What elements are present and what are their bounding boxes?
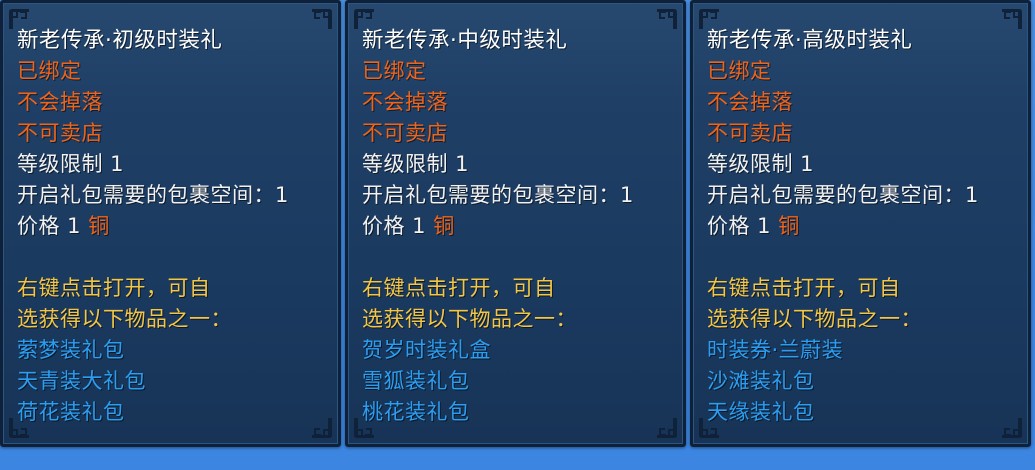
usage-hint-line-2: 选获得以下物品之一： bbox=[362, 304, 669, 335]
usage-hint-line-1: 右键点击打开，可自 bbox=[707, 273, 1014, 304]
level-limit: 等级限制 1 bbox=[707, 149, 1014, 180]
line-spacer bbox=[362, 242, 669, 273]
reward-item: 桃花装礼包 bbox=[362, 397, 669, 428]
bag-space-requirement: 开启礼包需要的包裹空间：1 bbox=[362, 180, 669, 211]
line-spacer bbox=[17, 242, 324, 273]
price-currency: 铜 bbox=[778, 214, 800, 238]
no-sell-status: 不可卖店 bbox=[362, 118, 669, 149]
level-limit: 等级限制 1 bbox=[17, 149, 324, 180]
price-row: 价格 1 铜 bbox=[17, 211, 324, 242]
bound-status: 已绑定 bbox=[707, 56, 1014, 87]
price-row: 价格 1 铜 bbox=[707, 211, 1014, 242]
reward-item: 雪狐装礼包 bbox=[362, 366, 669, 397]
tooltip-lines: 新老传承·高级时装礼 已绑定 不会掉落 不可卖店 等级限制 1 开启礼包需要的包… bbox=[707, 25, 1014, 428]
price-currency: 铜 bbox=[433, 214, 455, 238]
usage-hint-line-2: 选获得以下物品之一： bbox=[707, 304, 1014, 335]
price-label: 价格 1 bbox=[362, 214, 433, 238]
bound-status: 已绑定 bbox=[362, 56, 669, 87]
price-label: 价格 1 bbox=[17, 214, 88, 238]
item-title: 新老传承·高级时装礼 bbox=[707, 25, 1014, 56]
usage-hint-line-1: 右键点击打开，可自 bbox=[17, 273, 324, 304]
reward-item: 天青装大礼包 bbox=[17, 366, 324, 397]
no-drop-status: 不会掉落 bbox=[707, 87, 1014, 118]
item-tooltip-panel: 新老传承·初级时装礼 已绑定 不会掉落 不可卖店 等级限制 1 开启礼包需要的包… bbox=[0, 0, 341, 447]
item-tooltip-panel: 新老传承·中级时装礼 已绑定 不会掉落 不可卖店 等级限制 1 开启礼包需要的包… bbox=[345, 0, 686, 447]
item-title: 新老传承·中级时装礼 bbox=[362, 25, 669, 56]
usage-hint-line-2: 选获得以下物品之一： bbox=[17, 304, 324, 335]
usage-hint-line-1: 右键点击打开，可自 bbox=[362, 273, 669, 304]
price-label: 价格 1 bbox=[707, 214, 778, 238]
no-drop-status: 不会掉落 bbox=[362, 87, 669, 118]
bag-space-requirement: 开启礼包需要的包裹空间：1 bbox=[707, 180, 1014, 211]
tooltip-lines: 新老传承·初级时装礼 已绑定 不会掉落 不可卖店 等级限制 1 开启礼包需要的包… bbox=[17, 25, 324, 428]
price-currency: 铜 bbox=[88, 214, 110, 238]
reward-item: 萦梦装礼包 bbox=[17, 335, 324, 366]
reward-item: 时装券·兰蔚装 bbox=[707, 335, 1014, 366]
line-spacer bbox=[707, 242, 1014, 273]
item-tooltip-panel: 新老传承·高级时装礼 已绑定 不会掉落 不可卖店 等级限制 1 开启礼包需要的包… bbox=[690, 0, 1031, 447]
tooltip-lines: 新老传承·中级时装礼 已绑定 不会掉落 不可卖店 等级限制 1 开启礼包需要的包… bbox=[362, 25, 669, 428]
item-title: 新老传承·初级时装礼 bbox=[17, 25, 324, 56]
no-sell-status: 不可卖店 bbox=[707, 118, 1014, 149]
no-sell-status: 不可卖店 bbox=[17, 118, 324, 149]
reward-item: 沙滩装礼包 bbox=[707, 366, 1014, 397]
price-row: 价格 1 铜 bbox=[362, 211, 669, 242]
bound-status: 已绑定 bbox=[17, 56, 324, 87]
reward-item: 贺岁时装礼盒 bbox=[362, 335, 669, 366]
no-drop-status: 不会掉落 bbox=[17, 87, 324, 118]
game-tooltip-screen: 新老传承·初级时装礼 已绑定 不会掉落 不可卖店 等级限制 1 开启礼包需要的包… bbox=[0, 0, 1035, 470]
level-limit: 等级限制 1 bbox=[362, 149, 669, 180]
reward-item: 荷花装礼包 bbox=[17, 397, 324, 428]
bag-space-requirement: 开启礼包需要的包裹空间：1 bbox=[17, 180, 324, 211]
reward-item: 天缘装礼包 bbox=[707, 397, 1014, 428]
